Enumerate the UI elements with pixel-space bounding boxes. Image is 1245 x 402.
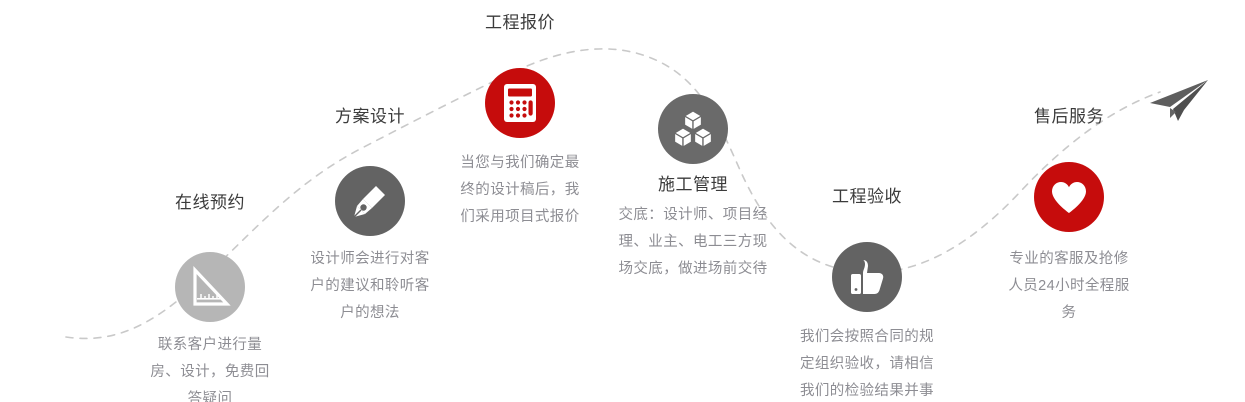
- step-description: 交底：设计师、项目经 理、业主、电工三方现 场交底，做进场前交待: [598, 202, 788, 283]
- desc-line: 人员24小时全程服: [988, 273, 1150, 300]
- desc-line: 专业的客服及抢修: [988, 246, 1150, 273]
- step-icon-circle[interactable]: [1034, 162, 1104, 232]
- desc-line: 联系客户进行量: [128, 332, 292, 359]
- desc-line: 定组织验收，请相信: [778, 351, 956, 378]
- calculator-icon: [501, 82, 539, 124]
- desc-line: 终的设计稿后，我: [445, 177, 595, 204]
- step-description: 专业的客服及抢修 人员24小时全程服 务: [988, 246, 1150, 327]
- desc-line: 户的建议和聆听客: [290, 273, 450, 300]
- step-icon-circle[interactable]: [832, 242, 902, 312]
- desc-line: 设计师会进行对客: [290, 246, 450, 273]
- desc-line: 交底：设计师、项目经: [598, 202, 788, 229]
- step-title: 售后服务: [988, 106, 1150, 128]
- flow-step-3[interactable]: 工程报价: [445, 12, 595, 231]
- process-flow-infographic: 在线预约 联系客户进行量 房、设计，免费回: [0, 0, 1245, 402]
- set-square-ruler-icon: [189, 266, 231, 308]
- desc-line: 户的想法: [290, 300, 450, 327]
- desc-line: 我们的检验结果并事: [778, 378, 956, 402]
- step-icon-circle[interactable]: [175, 252, 245, 322]
- thumbs-up-icon: [846, 257, 888, 297]
- step-description: 联系客户进行量 房、设计，免费回 答疑问: [128, 332, 292, 402]
- fountain-pen-icon: [350, 181, 390, 221]
- flow-step-4[interactable]: 施工管理 交底：设计师、项目经 理、业主、电工三方现 场交底，做进场前交待: [598, 94, 788, 283]
- step-title: 工程验收: [778, 186, 956, 208]
- desc-line: 们采用项目式报价: [445, 204, 595, 231]
- flow-step-6[interactable]: 售后服务 专业的客服及抢修 人员24小时全程服 务: [988, 106, 1150, 327]
- desc-line: 房、设计，免费回: [128, 359, 292, 386]
- desc-line: 我们会按照合同的规: [778, 324, 956, 351]
- paper-plane-icon: [1148, 78, 1210, 127]
- step-title: 方案设计: [290, 106, 450, 128]
- heart-icon: [1049, 179, 1089, 215]
- desc-line: 答疑问: [128, 386, 292, 402]
- step-icon-circle[interactable]: [658, 94, 728, 164]
- desc-line: 场交底，做进场前交待: [598, 256, 788, 283]
- desc-line: 当您与我们确定最: [445, 150, 595, 177]
- step-description: 我们会按照合同的规 定组织验收，请相信 我们的检验结果并事 后确认: [778, 324, 956, 402]
- desc-line: 理、业主、电工三方现: [598, 229, 788, 256]
- cubes-blocks-icon: [672, 109, 714, 149]
- step-title: 工程报价: [445, 12, 595, 34]
- flow-step-2[interactable]: 方案设计 设计师会进行对客 户的建议和聆听客 户的想法: [290, 106, 450, 327]
- flow-step-5[interactable]: 工程验收 我们会按照合同的规 定组织验收，请相信 我们的检验结果并事 后确认: [778, 186, 956, 402]
- step-title: 在线预约: [128, 192, 292, 214]
- step-title: 施工管理: [598, 174, 788, 196]
- step-description: 设计师会进行对客 户的建议和聆听客 户的想法: [290, 246, 450, 327]
- step-icon-circle[interactable]: [485, 68, 555, 138]
- flow-step-1[interactable]: 在线预约 联系客户进行量 房、设计，免费回: [128, 192, 292, 402]
- desc-line: 务: [988, 300, 1150, 327]
- step-description: 当您与我们确定最 终的设计稿后，我 们采用项目式报价: [445, 150, 595, 231]
- step-icon-circle[interactable]: [335, 166, 405, 236]
